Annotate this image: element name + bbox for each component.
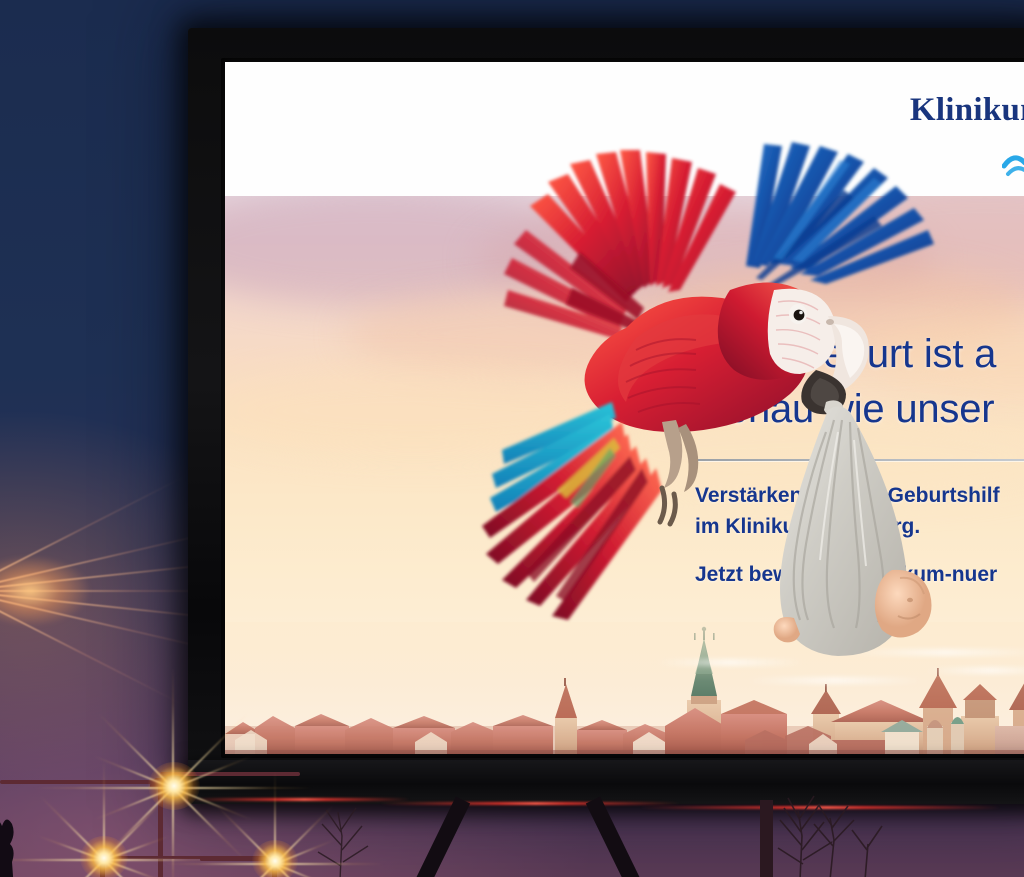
scene-root: Klinikum Jede Geburt ist a Genau wie uns… (0, 0, 1024, 877)
macaw-parrot-illustration (430, 102, 950, 662)
billboard-advert: Klinikum Jede Geburt ist a Genau wie uns… (225, 62, 1024, 754)
strut-light (380, 802, 680, 805)
light-streak (745, 677, 925, 684)
bare-tree (300, 800, 390, 877)
bare-tree (770, 790, 890, 877)
flare-core (0, 556, 90, 626)
swoosh-mark-icon (1002, 144, 1024, 178)
light-streak (925, 667, 1024, 674)
foreground-silhouette (0, 800, 50, 877)
